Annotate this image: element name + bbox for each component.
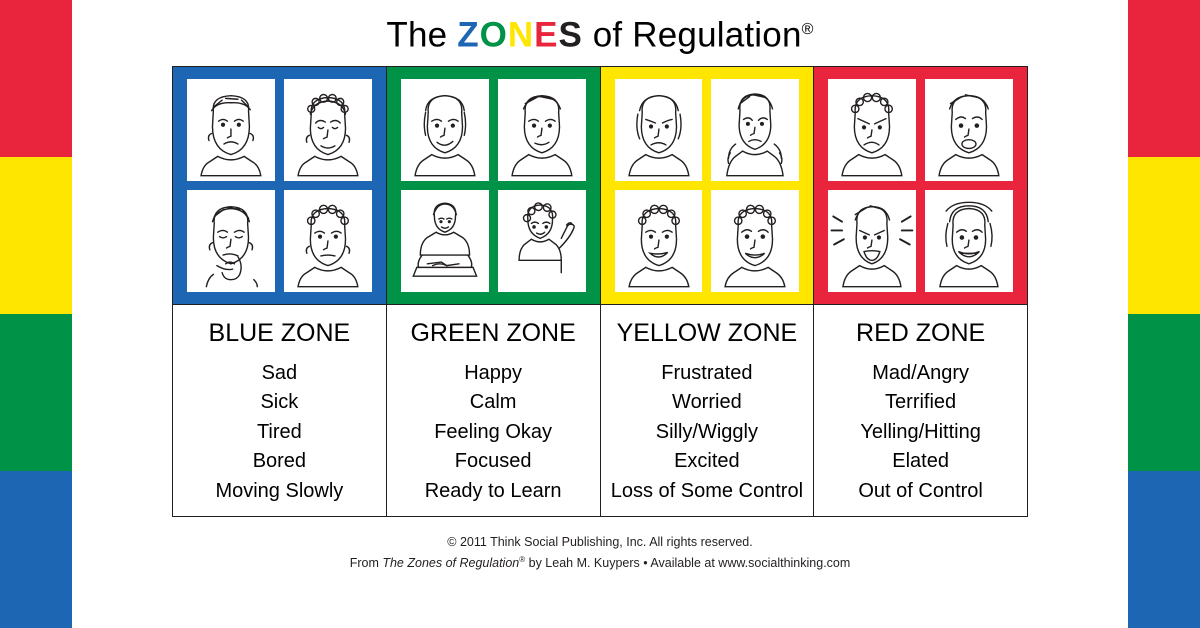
zone-name-blue: BLUE ZONE	[179, 319, 380, 348]
zone-text-blue: BLUE ZONE Sad Sick Tired Bored Moving Sl…	[173, 305, 386, 517]
zone-word: Ready to Learn	[393, 477, 594, 507]
zone-text-green: GREEN ZONE Happy Calm Feeling Okay Focus…	[387, 305, 600, 517]
excited-face	[711, 190, 799, 292]
zone-word: Terrified	[820, 388, 1021, 418]
zone-word: Out of Control	[820, 477, 1021, 507]
zone-word: Loss of Some Control	[607, 477, 808, 507]
footer-book-title: The Zones of Regulation	[382, 556, 519, 570]
zone-word: Worried	[607, 388, 808, 418]
title-prefix: The	[386, 16, 457, 55]
right-color-bars	[1128, 0, 1200, 628]
zone-word: Yelling/Hitting	[820, 418, 1021, 448]
zone-word: Bored	[179, 447, 380, 477]
faces-grid-yellow	[601, 67, 814, 305]
zone-text-yellow: YELLOW ZONE Frustrated Worried Silly/Wig…	[601, 305, 814, 517]
happy-face	[401, 79, 489, 181]
zone-word: Sad	[179, 359, 380, 389]
zone-name-yellow: YELLOW ZONE	[607, 319, 808, 348]
copyright-footer: © 2011 Think Social Publishing, Inc. All…	[350, 533, 851, 572]
title-zones-word: ZONES	[457, 16, 583, 55]
right-bar-red	[1128, 0, 1200, 157]
tired-face	[187, 190, 275, 292]
zone-word: Mad/Angry	[820, 359, 1021, 389]
sad-face	[187, 79, 275, 181]
faces-grid-blue	[173, 67, 386, 305]
zone-word: Excited	[607, 447, 808, 477]
right-bar-yellow	[1128, 157, 1200, 314]
zone-name-red: RED ZONE	[820, 319, 1021, 348]
title-registered-mark: ®	[802, 21, 814, 38]
zone-column-yellow: YELLOW ZONE Frustrated Worried Silly/Wig…	[601, 67, 815, 517]
zone-word: Calm	[393, 388, 594, 418]
zone-text-red: RED ZONE Mad/Angry Terrified Yelling/Hit…	[814, 305, 1027, 517]
left-bar-blue	[0, 471, 72, 628]
right-bar-blue	[1128, 471, 1200, 628]
zone-name-green: GREEN ZONE	[393, 319, 594, 348]
zone-word: Silly/Wiggly	[607, 418, 808, 448]
zone-word: Tired	[179, 418, 380, 448]
ready-to-learn-face	[498, 190, 586, 292]
left-bar-green	[0, 314, 72, 471]
zone-word: Frustrated	[607, 359, 808, 389]
zone-word: Happy	[393, 359, 594, 389]
silly-face	[615, 190, 703, 292]
calm-face	[498, 79, 586, 181]
zone-word: Moving Slowly	[179, 477, 380, 507]
page-title: The ZONES of Regulation®	[386, 8, 813, 58]
zone-word: Elated	[820, 447, 1021, 477]
faces-grid-green	[387, 67, 600, 305]
footer-line-2: From The Zones of Regulation® by Leah M.…	[350, 551, 851, 572]
bored-face	[284, 190, 372, 292]
footer-author-and-site: by Leah M. Kuypers • Available at www.so…	[525, 556, 850, 570]
mad-face	[828, 79, 916, 181]
worried-face	[711, 79, 799, 181]
zone-word: Focused	[393, 447, 594, 477]
left-bar-red	[0, 0, 72, 157]
footer-line-1: © 2011 Think Social Publishing, Inc. All…	[350, 533, 851, 551]
zone-column-red: RED ZONE Mad/Angry Terrified Yelling/Hit…	[814, 67, 1027, 517]
zone-word: Sick	[179, 388, 380, 418]
frustrated-face	[615, 79, 703, 181]
left-bar-yellow	[0, 157, 72, 314]
zone-column-green: GREEN ZONE Happy Calm Feeling Okay Focus…	[387, 67, 601, 517]
terrified-face	[925, 79, 1013, 181]
footer-from-prefix: From	[350, 556, 383, 570]
zone-column-blue: BLUE ZONE Sad Sick Tired Bored Moving Sl…	[173, 67, 387, 517]
left-color-bars	[0, 0, 72, 628]
faces-grid-red	[814, 67, 1027, 305]
poster: The ZONES of Regulation®	[0, 0, 1200, 628]
yelling-face	[828, 190, 916, 292]
elated-face	[925, 190, 1013, 292]
zone-word: Feeling Okay	[393, 418, 594, 448]
right-bar-green	[1128, 314, 1200, 471]
sick-face	[284, 79, 372, 181]
title-suffix: of Regulation	[583, 16, 802, 55]
poster-content: The ZONES of Regulation®	[72, 0, 1128, 628]
focused-face	[401, 190, 489, 292]
zones-chart: BLUE ZONE Sad Sick Tired Bored Moving Sl…	[172, 66, 1028, 518]
